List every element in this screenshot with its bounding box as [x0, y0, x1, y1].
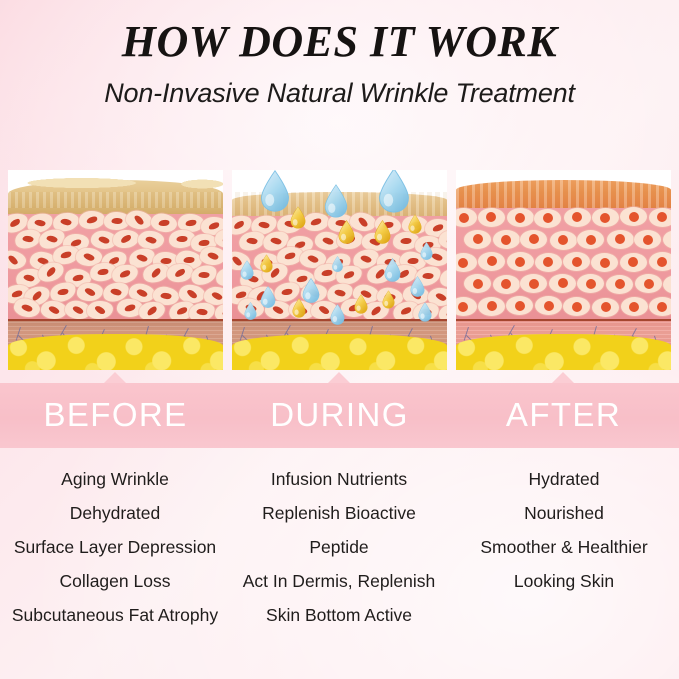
cell-nucleus — [86, 215, 98, 224]
cell-nucleus — [207, 251, 219, 261]
cell-nucleus — [529, 279, 539, 289]
cell-nucleus — [400, 306, 412, 316]
cell-nucleus — [97, 269, 109, 277]
list-item: Aging Wrinkle — [2, 462, 228, 496]
dermis-cell — [199, 245, 223, 266]
dermis-cells-regular — [456, 208, 671, 319]
cell-nucleus — [601, 302, 611, 312]
cell-nucleus — [60, 218, 72, 226]
cell-nucleus — [198, 239, 210, 246]
list-item: Dehydrated — [2, 496, 228, 530]
page-title: HOW DOES IT WORK — [0, 0, 679, 64]
cell-nucleus — [515, 301, 525, 311]
cell-nucleus — [208, 222, 220, 231]
cell-nucleus — [473, 234, 483, 244]
dermis-cell — [563, 297, 590, 316]
cell-nucleus — [572, 212, 582, 222]
epidermis-layer — [8, 180, 223, 216]
list-item: Surface Layer Depression — [2, 530, 228, 564]
water-droplet-icon — [260, 286, 276, 308]
water-droplet-icon — [378, 170, 410, 213]
cell-nucleus — [544, 301, 554, 311]
cell-nucleus — [183, 257, 194, 264]
column-after: HydratedNourishedSmoother & HealthierLoo… — [451, 462, 677, 598]
dermis-layer — [8, 214, 223, 319]
dermis-cell — [493, 275, 520, 294]
stage-label-after: AFTER — [456, 397, 671, 433]
cell-nucleus — [543, 257, 553, 267]
cell-nucleus — [144, 235, 156, 244]
serum-droplet-icon — [408, 214, 422, 234]
dermis-cell — [506, 296, 533, 315]
list-item: Hydrated — [451, 462, 677, 496]
dermis-cell — [649, 297, 671, 316]
cell-nucleus — [644, 279, 654, 289]
dermis-cells-irregular — [8, 214, 223, 319]
subcutaneous-fat-layer — [8, 334, 223, 370]
cell-nucleus — [334, 289, 346, 298]
dermis-cell — [520, 274, 547, 293]
dermis-cell — [166, 263, 193, 282]
dermis-cell — [507, 252, 534, 271]
cell-nucleus — [246, 237, 258, 244]
dermis-cell — [8, 248, 28, 271]
column-before: Aging WrinkleDehydratedSurface Layer Dep… — [2, 462, 228, 632]
cell-nucleus — [486, 212, 496, 222]
list-item: Smoother & Healthier — [451, 530, 677, 564]
cell-nucleus — [360, 254, 372, 263]
epidermis-layer — [456, 180, 671, 210]
cell-nucleus — [8, 254, 19, 266]
cell-nucleus — [487, 256, 497, 266]
cell-nucleus — [529, 234, 539, 244]
stage-label-band: BEFORE DURING AFTER — [0, 383, 679, 448]
pointer-after-icon — [552, 372, 574, 383]
cell-nucleus — [258, 221, 270, 229]
illustration-panels — [0, 170, 679, 370]
cell-nucleus — [84, 287, 97, 298]
cell-nucleus — [45, 266, 57, 278]
cell-nucleus — [150, 267, 162, 279]
header: HOW DOES IT WORK Non-Invasive Natural Wr… — [0, 0, 679, 107]
dermis-cell — [620, 207, 647, 226]
dermis-cell — [592, 298, 619, 317]
dermis-cell — [634, 230, 661, 249]
water-droplet-icon — [260, 170, 290, 212]
dermis-cell — [113, 229, 140, 248]
panel-before — [8, 170, 223, 370]
dermis-cell — [592, 208, 619, 227]
dermis-cell — [478, 208, 505, 227]
stage-label-before: BEFORE — [8, 397, 223, 433]
cell-nucleus — [233, 220, 246, 231]
list-item: Peptide — [226, 530, 452, 564]
dermis-cell — [493, 230, 520, 249]
serum-droplet-icon — [290, 206, 306, 229]
serum-droplet-icon — [260, 254, 273, 273]
dermis-cell — [535, 253, 562, 272]
dermis-cell — [663, 230, 671, 249]
cell-nucleus — [281, 288, 293, 296]
cell-nucleus — [446, 310, 447, 317]
dermis-cell — [563, 252, 590, 271]
dermis-cell — [663, 275, 671, 294]
cell-nucleus — [10, 289, 22, 298]
cell-nucleus — [23, 274, 35, 282]
dermis-cell — [137, 230, 165, 251]
cell-nucleus — [322, 237, 334, 246]
cell-nucleus — [57, 288, 69, 296]
serum-droplet-icon — [338, 220, 355, 244]
dermis-cell — [456, 208, 477, 227]
dermis-cell — [77, 283, 103, 302]
pointer-before-icon — [104, 372, 126, 383]
cell-nucleus — [459, 213, 469, 223]
cell-nucleus — [515, 257, 525, 267]
dermis-cell — [635, 274, 662, 293]
dermis-cell — [606, 275, 633, 294]
serum-droplet-icon — [292, 298, 306, 318]
cell-nucleus — [515, 213, 525, 223]
water-droplet-icon — [384, 258, 401, 282]
cell-nucleus — [136, 253, 148, 262]
water-droplet-icon — [240, 260, 254, 280]
cell-nucleus — [407, 258, 418, 265]
cell-nucleus — [21, 303, 33, 312]
water-droplet-icon — [418, 302, 432, 322]
water-droplet-icon — [330, 304, 345, 325]
cell-nucleus — [98, 235, 110, 244]
cell-nucleus — [501, 279, 511, 289]
cell-nucleus — [94, 304, 106, 315]
list-item: Looking Skin — [451, 564, 677, 598]
cell-nucleus — [211, 291, 223, 301]
cell-nucleus — [82, 252, 94, 262]
cell-nucleus — [657, 212, 667, 222]
dermis-cell — [456, 253, 477, 272]
cell-nucleus — [174, 267, 187, 278]
cell-nucleus — [306, 254, 318, 264]
cell-nucleus — [120, 233, 133, 244]
dermis-cell — [87, 300, 113, 318]
cell-nucleus — [458, 258, 468, 268]
column-during: Infusion NutrientsReplenish BioactivePep… — [226, 462, 452, 632]
cell-nucleus — [586, 235, 596, 245]
dermis-cell — [607, 230, 634, 249]
dermis-cell — [621, 297, 648, 316]
water-droplet-icon — [410, 276, 425, 297]
cell-nucleus — [318, 304, 330, 315]
cell-nucleus — [643, 235, 653, 245]
cell-nucleus — [160, 293, 172, 300]
cell-nucleus — [310, 217, 322, 226]
cell-nucleus — [160, 258, 171, 264]
water-droplet-icon — [244, 302, 257, 320]
list-item: Replenish Bioactive — [226, 496, 452, 530]
cell-nucleus — [72, 274, 84, 282]
dermis-cell — [535, 296, 562, 315]
dermis-cell — [577, 230, 604, 249]
cell-nucleus — [473, 279, 483, 289]
cell-nucleus — [110, 288, 122, 297]
dermis-cell — [620, 253, 647, 272]
cell-nucleus — [222, 234, 223, 243]
dermis-cell — [577, 274, 604, 293]
cell-nucleus — [119, 270, 131, 280]
cell-nucleus — [177, 236, 188, 242]
dermis-layer — [456, 208, 671, 319]
cell-nucleus — [628, 257, 638, 267]
dermis-cell — [649, 252, 671, 271]
dermis-cell — [549, 274, 576, 293]
cell-nucleus — [123, 304, 135, 313]
cell-nucleus — [176, 306, 188, 316]
cell-nucleus — [586, 279, 596, 289]
cell-nucleus — [145, 305, 157, 317]
list-item: Infusion Nutrients — [226, 462, 452, 496]
cell-nucleus — [196, 308, 208, 315]
list-item: Skin Bottom Active — [226, 598, 452, 632]
dermis-cell — [478, 297, 505, 316]
skin-cross-section-smooth-icon — [456, 170, 671, 370]
cell-nucleus — [222, 310, 223, 317]
list-item: Act In Dermis, Replenish — [226, 564, 452, 598]
dermis-cell — [520, 230, 547, 249]
water-droplet-icon — [328, 256, 347, 272]
list-item: Subcutaneous Fat Atrophy — [2, 598, 228, 632]
cell-nucleus — [435, 292, 447, 302]
cell-nucleus — [543, 213, 553, 223]
list-item: Collagen Loss — [2, 564, 228, 598]
cell-nucleus — [72, 305, 85, 316]
cell-nucleus — [9, 218, 22, 229]
cell-nucleus — [558, 278, 568, 288]
cell-nucleus — [629, 212, 639, 222]
dermis-cell — [215, 267, 223, 287]
dermis-cell — [439, 268, 447, 288]
stage-text-columns: Aging WrinkleDehydratedSurface Layer Dep… — [0, 462, 679, 662]
list-item: Nourished — [451, 496, 677, 530]
water-droplet-icon — [418, 242, 435, 260]
cell-nucleus — [284, 252, 296, 261]
cell-nucleus — [446, 236, 447, 245]
dermis-cell — [591, 253, 618, 272]
cell-nucleus — [133, 214, 145, 226]
page-subtitle: Non-Invasive Natural Wrinkle Treatment — [0, 64, 679, 107]
cell-nucleus — [657, 257, 667, 267]
cell-nucleus — [657, 302, 667, 312]
panel-during — [232, 170, 447, 370]
cell-nucleus — [198, 272, 209, 278]
subcutaneous-fat-layer — [456, 334, 671, 370]
dermis-cell — [478, 252, 505, 271]
cell-nucleus — [270, 237, 282, 246]
dermis-cell — [550, 231, 577, 250]
cell-nucleus — [185, 219, 197, 227]
infographic-page: HOW DOES IT WORK Non-Invasive Natural Wr… — [0, 0, 679, 679]
dermis-cell — [564, 208, 591, 227]
cell-nucleus — [369, 305, 381, 317]
skin-cross-section-wrinkled-icon — [8, 170, 223, 370]
water-droplet-icon — [324, 184, 348, 218]
serum-droplet-icon — [354, 294, 368, 314]
cell-nucleus — [48, 304, 61, 314]
stage-label-during: DURING — [232, 397, 447, 433]
dermis-cell — [507, 208, 534, 227]
dermis-cell — [79, 211, 105, 229]
dermis-cell — [464, 274, 491, 293]
cell-nucleus — [401, 238, 412, 244]
cell-nucleus — [501, 235, 511, 245]
cell-nucleus — [572, 302, 582, 312]
cell-nucleus — [112, 217, 123, 223]
cell-nucleus — [615, 279, 625, 289]
cell-nucleus — [158, 219, 170, 226]
cell-nucleus — [600, 213, 610, 223]
pointer-during-icon — [328, 372, 350, 383]
cell-nucleus — [22, 236, 34, 243]
cell-nucleus — [34, 219, 46, 227]
dermis-cell — [456, 297, 477, 316]
cell-nucleus — [615, 234, 625, 244]
cell-nucleus — [600, 258, 610, 268]
dermis-cell — [649, 208, 671, 227]
panel-after — [456, 170, 671, 370]
skin-cross-section-with-droplets-icon — [232, 170, 447, 370]
dermis-cell — [464, 230, 491, 249]
serum-droplet-icon — [382, 290, 395, 309]
serum-droplet-icon — [374, 220, 391, 244]
cell-nucleus — [343, 271, 355, 281]
cell-nucleus — [185, 289, 197, 301]
cell-nucleus — [357, 216, 369, 228]
cell-nucleus — [629, 302, 639, 312]
cell-nucleus — [572, 257, 582, 267]
dermis-cell — [534, 209, 561, 228]
cell-nucleus — [558, 235, 568, 245]
cell-nucleus — [46, 235, 58, 244]
cell-nucleus — [136, 288, 149, 298]
cell-nucleus — [60, 250, 72, 259]
subcutaneous-fat-layer — [232, 334, 447, 370]
cell-nucleus — [458, 302, 468, 312]
cell-nucleus — [487, 301, 497, 311]
